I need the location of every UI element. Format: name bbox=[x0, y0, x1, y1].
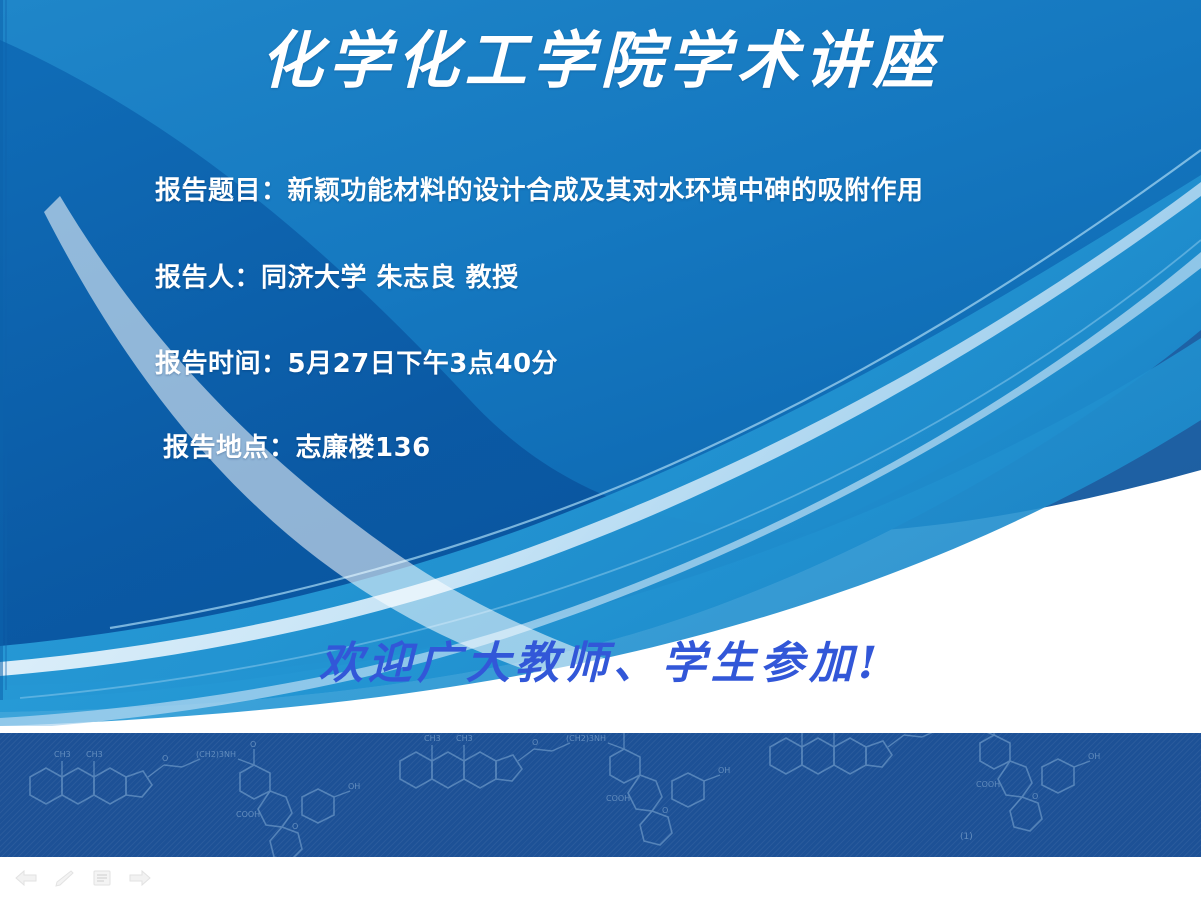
info-line-topic: 报告题目：新颖功能材料的设计合成及其对水环境中砷的吸附作用 bbox=[155, 170, 924, 207]
svg-text:(1): (1) bbox=[960, 832, 973, 842]
slide-title: 化学化工学院学术讲座 bbox=[0, 18, 1201, 104]
pen-icon bbox=[52, 868, 76, 888]
slideshow-control-toolbar bbox=[0, 858, 1201, 897]
left-arrow-icon bbox=[14, 868, 38, 888]
pen-tool-button[interactable] bbox=[50, 865, 78, 891]
previous-slide-button[interactable] bbox=[12, 865, 40, 891]
slideshow-menu-button[interactable] bbox=[88, 865, 116, 891]
slideshow-window: 化学化工学院学术讲座 报告题目：新颖功能材料的设计合成及其对水环境中砷的吸附作用… bbox=[0, 0, 1201, 897]
info-line-speaker: 报告人：同济大学 朱志良 教授 bbox=[155, 257, 519, 294]
info-line-time: 报告时间：5月27日下午3点40分 bbox=[155, 343, 558, 380]
slide-footer-band: CH3 CH3 O (CH2)3NH O CO bbox=[0, 733, 1201, 857]
info-line-location: 报告地点：志廉楼136 bbox=[163, 427, 431, 464]
chemical-structure-pattern: CH3 CH3 O (CH2)3NH O CO bbox=[0, 733, 1201, 857]
menu-icon bbox=[90, 868, 114, 888]
right-arrow-icon bbox=[128, 868, 152, 888]
presentation-slide[interactable]: 化学化工学院学术讲座 报告题目：新颖功能材料的设计合成及其对水环境中砷的吸附作用… bbox=[0, 0, 1201, 858]
next-slide-button[interactable] bbox=[126, 865, 154, 891]
slide-text-layer: 化学化工学院学术讲座 报告题目：新颖功能材料的设计合成及其对水环境中砷的吸附作用… bbox=[0, 0, 1201, 858]
welcome-message: 欢迎广大教师、学生参加! bbox=[0, 634, 1201, 694]
